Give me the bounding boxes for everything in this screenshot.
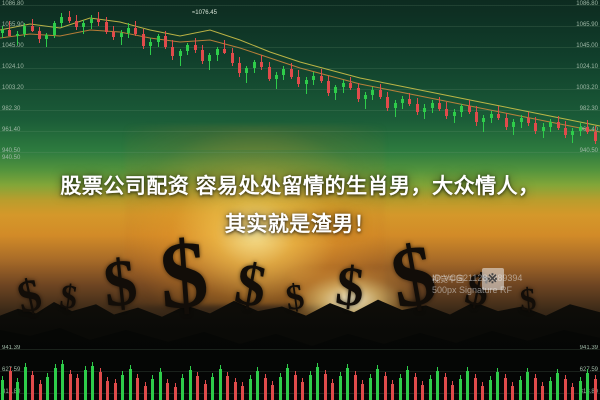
candlestick bbox=[82, 0, 85, 165]
candle-body bbox=[23, 26, 26, 35]
candlestick bbox=[357, 0, 360, 165]
volume-bar bbox=[241, 345, 244, 400]
candle-body bbox=[349, 83, 352, 88]
candle-body bbox=[534, 123, 537, 130]
volume-bar bbox=[16, 345, 19, 400]
candlestick bbox=[305, 0, 308, 165]
logo-glyph: ※ bbox=[487, 271, 498, 287]
candle-body bbox=[445, 109, 448, 116]
candlestick bbox=[275, 0, 278, 165]
volume-bar-body bbox=[24, 367, 27, 400]
volume-bar bbox=[31, 345, 34, 400]
volume-bar-body bbox=[271, 385, 274, 400]
volume-bar bbox=[331, 345, 334, 400]
candle-body bbox=[312, 76, 315, 80]
volume-bar-body bbox=[406, 370, 409, 400]
candle-body bbox=[549, 122, 552, 126]
volume-bar-body bbox=[436, 371, 439, 400]
candlestick bbox=[379, 0, 382, 165]
volume-bar-body bbox=[106, 381, 109, 400]
volume-bar bbox=[376, 345, 379, 400]
candlestick bbox=[527, 0, 530, 165]
candlestick bbox=[208, 0, 211, 165]
volume-bar-body bbox=[241, 386, 244, 400]
candlestick bbox=[349, 0, 352, 165]
volume-bar bbox=[151, 345, 154, 400]
volume-bar bbox=[414, 345, 417, 400]
candlestick bbox=[120, 0, 123, 165]
volume-bar bbox=[189, 345, 192, 400]
candle-body bbox=[490, 114, 493, 118]
candle-body bbox=[275, 75, 278, 79]
volume-bar bbox=[159, 345, 162, 400]
volume-bar bbox=[76, 345, 79, 400]
candlestick bbox=[238, 0, 241, 165]
y-axis-tick-left: 1065.90 bbox=[2, 22, 24, 29]
candlestick bbox=[342, 0, 345, 165]
volume-bar-body bbox=[369, 378, 372, 400]
candlestick bbox=[371, 0, 374, 165]
volume-bar-body bbox=[346, 368, 349, 400]
y-axis-tick-left: 1086.80 bbox=[2, 1, 24, 8]
candle-body bbox=[75, 21, 78, 26]
volume-bar bbox=[534, 345, 537, 400]
volume-bar bbox=[114, 345, 117, 400]
volume-bar bbox=[91, 345, 94, 400]
volume-bar bbox=[24, 345, 27, 400]
candle-body bbox=[290, 69, 293, 76]
candle-body bbox=[320, 76, 323, 81]
volume-bar-body bbox=[511, 386, 514, 400]
volume-bar-body bbox=[249, 379, 252, 400]
candlestick bbox=[364, 0, 367, 165]
candlestick bbox=[127, 0, 130, 165]
volume-bar bbox=[549, 345, 552, 400]
y-axis-tick-left: 1024.10 bbox=[2, 64, 24, 71]
volume-bar bbox=[309, 345, 312, 400]
candlestick bbox=[401, 0, 404, 165]
candlestick bbox=[31, 0, 34, 165]
stock-banner-image: 1086.801086.801065.901065.901045.001045.… bbox=[0, 0, 600, 400]
volume-bar-body bbox=[451, 385, 454, 400]
candle-body bbox=[82, 23, 85, 26]
candle-body bbox=[142, 34, 145, 46]
volume-bar-body bbox=[166, 383, 169, 400]
candle-body bbox=[45, 35, 48, 39]
volume-bar-body bbox=[354, 375, 357, 400]
candlestick bbox=[245, 0, 248, 165]
candlestick bbox=[534, 0, 537, 165]
volume-bar bbox=[384, 345, 387, 400]
candle-body bbox=[505, 118, 508, 127]
volume-bar bbox=[166, 345, 169, 400]
candlestick bbox=[490, 0, 493, 165]
volume-bar-body bbox=[159, 372, 162, 400]
candlestick bbox=[431, 0, 434, 165]
candle-body bbox=[371, 90, 374, 94]
candle-body bbox=[594, 132, 597, 141]
volume-bar-body bbox=[16, 382, 19, 400]
volume-bar-body bbox=[399, 378, 402, 400]
logo-box: ※ bbox=[482, 268, 504, 290]
candlestick bbox=[260, 0, 263, 165]
volume-bar-body bbox=[196, 376, 199, 400]
candlestick bbox=[482, 0, 485, 165]
volume-bar bbox=[286, 345, 289, 400]
volume-bar bbox=[84, 345, 87, 400]
candlestick bbox=[282, 0, 285, 165]
volume-bar-body bbox=[234, 382, 237, 400]
candle-body bbox=[127, 28, 130, 33]
volume-bar-body bbox=[136, 378, 139, 400]
candlestick bbox=[216, 0, 219, 165]
candle-body bbox=[179, 51, 182, 56]
candle-body bbox=[431, 103, 434, 107]
volume-bar-body bbox=[91, 366, 94, 400]
candle-body bbox=[216, 49, 219, 55]
candlestick bbox=[505, 0, 508, 165]
volume-bar bbox=[174, 345, 177, 400]
candle-body bbox=[260, 62, 263, 67]
candle-body bbox=[208, 55, 211, 60]
candlestick bbox=[134, 0, 137, 165]
volume-bar bbox=[136, 345, 139, 400]
candle-body bbox=[364, 95, 367, 99]
candle-body bbox=[112, 32, 115, 37]
candlestick bbox=[38, 0, 41, 165]
volume-bar-body bbox=[579, 381, 582, 400]
candlestick bbox=[53, 0, 56, 165]
candlestick bbox=[231, 0, 234, 165]
volume-bar-body bbox=[564, 379, 567, 400]
candle-body bbox=[416, 104, 419, 111]
candlestick bbox=[105, 0, 108, 165]
candle-body bbox=[194, 45, 197, 50]
candle-body bbox=[357, 88, 360, 99]
volume-bar-body bbox=[316, 367, 319, 400]
candlestick bbox=[179, 0, 182, 165]
candle-body bbox=[423, 108, 426, 112]
volume-bar bbox=[354, 345, 357, 400]
volume-bar bbox=[204, 345, 207, 400]
candlestick bbox=[334, 0, 337, 165]
candle-body bbox=[38, 31, 41, 40]
volume-bar bbox=[46, 345, 49, 400]
candlestick bbox=[90, 0, 93, 165]
volume-bar-body bbox=[181, 378, 184, 400]
volume-bar-body bbox=[211, 377, 214, 400]
volume-bar-body bbox=[549, 381, 552, 400]
volume-bar-body bbox=[504, 378, 507, 400]
volume-bar bbox=[294, 345, 297, 400]
volume-bar bbox=[196, 345, 199, 400]
volume-bar-body bbox=[376, 369, 379, 400]
candlestick bbox=[416, 0, 419, 165]
candlestick bbox=[142, 0, 145, 165]
candlestick bbox=[386, 0, 389, 165]
volume-bar-body bbox=[174, 387, 177, 400]
candlestick bbox=[186, 0, 189, 165]
candle-body bbox=[497, 114, 500, 118]
volume-bar bbox=[586, 345, 589, 400]
volume-bar bbox=[399, 345, 402, 400]
volume-bar-body bbox=[489, 380, 492, 400]
volume-bar bbox=[444, 345, 447, 400]
candlestick bbox=[475, 0, 478, 165]
volume-bar-body bbox=[129, 369, 132, 400]
volume-bar-body bbox=[286, 368, 289, 400]
volume-bar-body bbox=[46, 377, 49, 400]
volume-bar bbox=[264, 345, 267, 400]
volume-bar-body bbox=[84, 370, 87, 400]
candlestick bbox=[423, 0, 426, 165]
candle-body bbox=[171, 47, 174, 57]
volume-bar-body bbox=[189, 370, 192, 400]
candle-body bbox=[327, 81, 330, 93]
candlestick bbox=[468, 0, 471, 165]
candlestick bbox=[453, 0, 456, 165]
candle-body bbox=[31, 26, 34, 31]
candlestick bbox=[445, 0, 448, 165]
volume-bar bbox=[121, 345, 124, 400]
volume-bar bbox=[429, 345, 432, 400]
volume-bar bbox=[219, 345, 222, 400]
candle-body bbox=[68, 17, 71, 21]
candle-body bbox=[453, 112, 456, 116]
volume-bar bbox=[181, 345, 184, 400]
volume-bar-body bbox=[279, 377, 282, 400]
candle-body bbox=[157, 36, 160, 41]
candlestick bbox=[112, 0, 115, 165]
candle-wick bbox=[17, 31, 18, 45]
volume-bar-body bbox=[496, 372, 499, 400]
candle-body bbox=[475, 112, 478, 123]
volume-bar bbox=[421, 345, 424, 400]
volume-bar bbox=[459, 345, 462, 400]
volume-bar bbox=[466, 345, 469, 400]
volume-bar-body bbox=[151, 379, 154, 400]
volume-bar bbox=[451, 345, 454, 400]
volume-bar-body bbox=[541, 386, 544, 400]
candlestick bbox=[460, 0, 463, 165]
candle-wick bbox=[83, 20, 84, 34]
lower-volume-chart: 941.39941.39627.59627.59313.80313.80 bbox=[0, 345, 600, 400]
candle-body bbox=[460, 106, 463, 111]
volume-bar-body bbox=[1, 380, 4, 400]
candle-body bbox=[186, 45, 189, 51]
vcg-logo-icon: ※ bbox=[482, 268, 508, 294]
volume-bar-body bbox=[586, 373, 589, 400]
candlestick bbox=[171, 0, 174, 165]
candle-body bbox=[379, 90, 382, 96]
candle-body bbox=[557, 122, 560, 127]
headline-line-1: 股票公司配资 容易处处留情的生肖男，大众情人， bbox=[0, 168, 600, 206]
volume-bar bbox=[106, 345, 109, 400]
volume-bar bbox=[436, 345, 439, 400]
volume-bar bbox=[556, 345, 559, 400]
candle-body bbox=[223, 49, 226, 53]
candlestick bbox=[194, 0, 197, 165]
candle-body bbox=[1, 30, 4, 33]
volume-bar bbox=[564, 345, 567, 400]
candlestick bbox=[149, 0, 152, 165]
candle-body bbox=[282, 69, 285, 74]
candle-body bbox=[16, 34, 19, 36]
watermark-logo-cn: 视觉中国 bbox=[432, 274, 464, 286]
volume-bar-body bbox=[61, 364, 64, 400]
candle-body bbox=[401, 99, 404, 103]
volume-bar bbox=[571, 345, 574, 400]
volume-bar-body bbox=[9, 371, 12, 400]
volume-bar-body bbox=[264, 378, 267, 400]
candlestick bbox=[512, 0, 515, 165]
volume-bar-body bbox=[309, 375, 312, 400]
volume-bar-body bbox=[294, 375, 297, 400]
volume-bar bbox=[316, 345, 319, 400]
volume-bar-body bbox=[301, 382, 304, 400]
volume-bar bbox=[256, 345, 259, 400]
volume-bar bbox=[1, 345, 4, 400]
candlestick bbox=[268, 0, 271, 165]
volume-bar-body bbox=[331, 383, 334, 400]
candle-body bbox=[105, 22, 108, 32]
candle-body bbox=[97, 19, 100, 22]
candlestick bbox=[223, 0, 226, 165]
candlestick bbox=[557, 0, 560, 165]
candle-body bbox=[53, 23, 56, 35]
candle-body bbox=[334, 87, 337, 92]
volume-bar-body bbox=[391, 384, 394, 400]
volume-bar-body bbox=[99, 372, 102, 400]
volume-bar-body bbox=[429, 379, 432, 400]
volume-bar bbox=[369, 345, 372, 400]
candle-body bbox=[305, 80, 308, 84]
volume-bar bbox=[39, 345, 42, 400]
volume-bar-body bbox=[31, 375, 34, 400]
volume-bar bbox=[226, 345, 229, 400]
candlestick bbox=[408, 0, 411, 165]
candle-body bbox=[253, 62, 256, 68]
volume-bar bbox=[391, 345, 394, 400]
volume-bar-body bbox=[481, 386, 484, 400]
volume-bar-body bbox=[76, 378, 79, 400]
volume-bar-body bbox=[571, 387, 574, 400]
candle-body bbox=[564, 128, 567, 135]
volume-bar-body bbox=[444, 377, 447, 400]
volume-bar bbox=[481, 345, 484, 400]
volume-bar bbox=[406, 345, 409, 400]
candlestick bbox=[571, 0, 574, 165]
candlestick bbox=[68, 0, 71, 165]
volume-bar-body bbox=[121, 375, 124, 400]
volume-bar-body bbox=[556, 373, 559, 400]
candle-body bbox=[268, 67, 271, 79]
volume-bar-body bbox=[474, 378, 477, 400]
volume-bar-body bbox=[256, 371, 259, 400]
candlestick bbox=[564, 0, 567, 165]
volume-bar-body bbox=[414, 377, 417, 400]
y-axis-tick-left: 1045.00 bbox=[2, 43, 24, 50]
volume-bar-body bbox=[459, 379, 462, 400]
candlestick bbox=[290, 0, 293, 165]
candle-body bbox=[520, 118, 523, 122]
volume-bar bbox=[211, 345, 214, 400]
candle-body bbox=[438, 103, 441, 108]
volume-bar-body bbox=[69, 374, 72, 400]
volume-bar bbox=[279, 345, 282, 400]
volume-bar bbox=[526, 345, 529, 400]
volume-bar bbox=[346, 345, 349, 400]
candle-body bbox=[134, 28, 137, 34]
volume-bar-body bbox=[519, 380, 522, 400]
volume-bar-body bbox=[384, 376, 387, 400]
candlestick bbox=[497, 0, 500, 165]
candle-body bbox=[408, 99, 411, 104]
volume-bar bbox=[9, 345, 12, 400]
volume-bar bbox=[474, 345, 477, 400]
watermark: ID:VCG211284289394 500px Signature RF ※ … bbox=[432, 272, 592, 316]
volume-bar-body bbox=[226, 376, 229, 400]
candle-body bbox=[297, 77, 300, 84]
volume-bar-body bbox=[144, 386, 147, 400]
volume-bar bbox=[69, 345, 72, 400]
candle-body bbox=[512, 122, 515, 126]
candle-body bbox=[231, 53, 234, 63]
volume-bar bbox=[489, 345, 492, 400]
volume-bar bbox=[541, 345, 544, 400]
volume-bar-body bbox=[361, 384, 364, 400]
volume-bar bbox=[99, 345, 102, 400]
headline-text: 股票公司配资 容易处处留情的生肖男，大众情人， 其实就是渣男！ bbox=[0, 168, 600, 244]
volume-bar bbox=[144, 345, 147, 400]
candlestick bbox=[312, 0, 315, 165]
volume-bar bbox=[129, 345, 132, 400]
candlestick bbox=[157, 0, 160, 165]
candlestick bbox=[60, 0, 63, 165]
candlestick bbox=[520, 0, 523, 165]
candle-body bbox=[571, 131, 574, 135]
candlestick bbox=[97, 0, 100, 165]
headline-line-2: 其实就是渣男！ bbox=[0, 206, 600, 244]
volume-bar bbox=[504, 345, 507, 400]
candle-body bbox=[120, 33, 123, 37]
volume-bar bbox=[594, 345, 597, 400]
candle-body bbox=[342, 83, 345, 87]
volume-bar-body bbox=[594, 379, 597, 400]
candlestick bbox=[75, 0, 78, 165]
volume-bar-body bbox=[219, 369, 222, 400]
candle-body bbox=[245, 68, 248, 73]
volume-bar bbox=[271, 345, 274, 400]
candlestick bbox=[253, 0, 256, 165]
candle-body bbox=[542, 127, 545, 131]
candle-body bbox=[386, 97, 389, 108]
volume-bar-body bbox=[526, 372, 529, 400]
volume-bar bbox=[301, 345, 304, 400]
volume-bar bbox=[579, 345, 582, 400]
candlestick bbox=[394, 0, 397, 165]
candle-body bbox=[468, 106, 471, 111]
volume-bar-body bbox=[39, 384, 42, 400]
volume-bar-body bbox=[466, 371, 469, 400]
candle-body bbox=[201, 50, 204, 61]
candlestick bbox=[297, 0, 300, 165]
volume-bar-body bbox=[421, 385, 424, 400]
candle-body bbox=[527, 118, 530, 123]
candlestick bbox=[23, 0, 26, 165]
candlestick bbox=[438, 0, 441, 165]
candlestick bbox=[320, 0, 323, 165]
